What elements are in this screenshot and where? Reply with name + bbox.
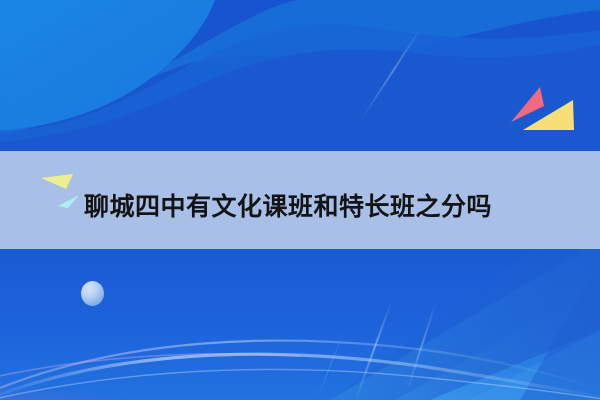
title-triangle-yellow: [41, 174, 73, 189]
page-title: 聊城四中有文化课班和特长班之分吗: [84, 185, 584, 225]
swoosh-pink-triangle: [511, 87, 544, 122]
sphere-bubble: [81, 281, 104, 306]
title-triangle-cyan: [58, 195, 79, 208]
poster-canvas: 聊城四中有文化课班和特长班之分吗: [0, 0, 600, 400]
title-accent-group: [38, 168, 86, 212]
swoosh-accent-group: [500, 78, 580, 138]
